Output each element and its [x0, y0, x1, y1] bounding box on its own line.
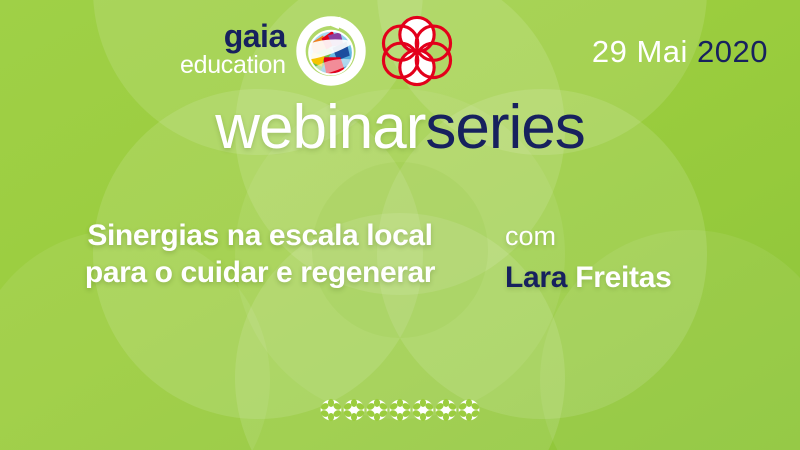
webinar-word: webinar [215, 93, 425, 162]
webinar-promo-banner: gaia education [0, 0, 800, 450]
seed-of-life-flower-icon [366, 398, 388, 422]
webinar-series-title: webinarseries [0, 92, 800, 163]
series-word: series [425, 93, 584, 162]
gaia-wordmark: gaia education [180, 20, 286, 82]
talk-title: Sinergias na escala local para o cuidar … [30, 218, 490, 292]
event-date-day-month: 29 Mai [592, 34, 688, 69]
speaker-name: Lara Freitas [505, 260, 672, 296]
speaker-with-label: com [505, 220, 672, 252]
brand-name-secondary: education [180, 53, 286, 78]
event-date-year: 2020 [697, 34, 768, 69]
banner-main-content: Sinergias na escala local para o cuidar … [0, 218, 800, 308]
event-date: 29 Mai 2020 [592, 34, 768, 70]
gaia-education-logo-lockup: gaia education [180, 12, 456, 90]
brand-name-primary: gaia [224, 20, 286, 52]
seed-of-life-flower-icon [320, 398, 342, 422]
seed-of-life-flower-icon [389, 398, 411, 422]
speaker-last-name: Freitas [575, 261, 671, 294]
red-seed-of-life-logo [378, 12, 456, 90]
seed-of-life-flower-icon [435, 398, 457, 422]
talk-title-line-1: Sinergias na escala local [87, 219, 432, 252]
banner-header: gaia education [0, 0, 800, 100]
talk-title-line-2: para o cuidar e regenerar [30, 255, 490, 292]
seed-of-life-flower-icon [343, 398, 365, 422]
seed-of-life-ornament-row [0, 398, 800, 422]
speaker-first-name: Lara [505, 261, 567, 294]
speaker-block: com Lara Freitas [505, 220, 672, 296]
seed-of-life-flower-icon [412, 398, 434, 422]
seed-of-life-flower-icon [458, 398, 480, 422]
gaia-globe-logo [292, 12, 370, 90]
